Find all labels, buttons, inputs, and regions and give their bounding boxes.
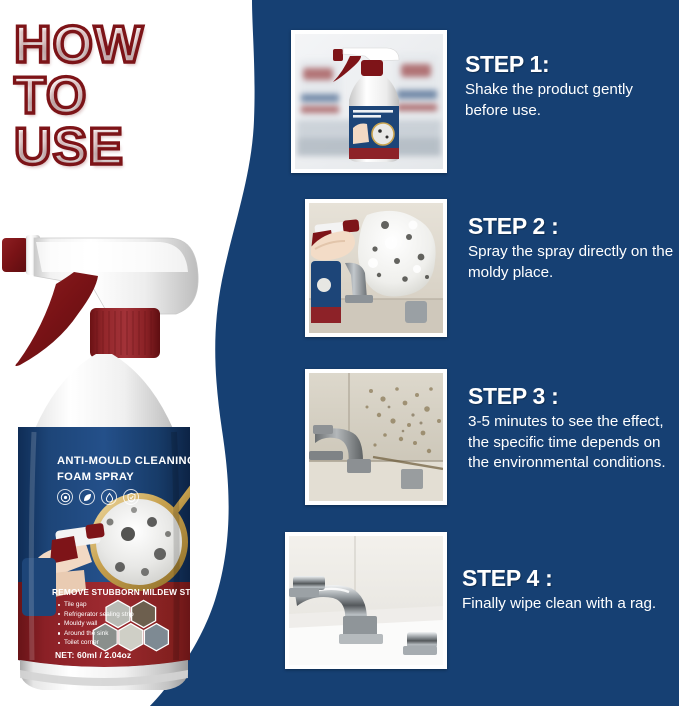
- step-3-text: STEP 3 : 3-5 minutes to see the effect, …: [468, 384, 668, 474]
- bottle-label-feature-icons: [57, 489, 139, 505]
- bottle-label-name-line-2: FOAM SPRAY: [57, 471, 134, 483]
- step-2-text: STEP 2 : Spray the spray directly on the…: [468, 214, 674, 283]
- shield-icon: [123, 489, 139, 505]
- step-2-body: Spray the spray directly on the moldy pl…: [468, 242, 674, 283]
- infographic-page: HOW TO USE: [0, 0, 679, 706]
- target-icon: [57, 489, 73, 505]
- step-3-heading: STEP 3 :: [468, 384, 668, 408]
- list-item: Tile gap: [58, 600, 134, 610]
- list-item: Around the sink: [58, 629, 134, 639]
- page-title-line-1: HOW: [14, 20, 144, 71]
- bottle-label-claim: REMOVE STUBBORN MILDEW STAINS: [52, 587, 211, 597]
- photo-spraying-foam: [305, 199, 447, 337]
- photo-mouldy-tile-wall: [305, 369, 447, 505]
- page-title: HOW TO USE: [14, 20, 144, 173]
- bottle-label-use-list: Tile gap Refrigerator sealing strip Moul…: [58, 600, 134, 648]
- photo-shaking-bottle: [291, 30, 447, 173]
- step-1-heading: STEP 1:: [465, 52, 671, 76]
- photo-clean-faucet: [285, 532, 447, 669]
- step-1-body: Shake the product gently before use.: [465, 80, 671, 121]
- droplet-icon: [101, 489, 117, 505]
- leaf-icon: [79, 489, 95, 505]
- page-title-line-2: TO: [14, 71, 144, 122]
- list-item: Refrigerator sealing strip: [58, 610, 134, 620]
- list-item: Toilet corner: [58, 638, 134, 648]
- step-3-body: 3-5 minutes to see the effect, the speci…: [468, 412, 668, 474]
- step-4-heading: STEP 4 :: [462, 566, 668, 590]
- step-2-heading: STEP 2 :: [468, 214, 674, 238]
- step-1-text: STEP 1: Shake the product gently before …: [465, 52, 671, 121]
- list-item: Mouldy wall: [58, 619, 134, 629]
- page-title-line-3: USE: [14, 122, 144, 173]
- bottle-label-net-weight: NET: 60ml / 2.04oz: [55, 650, 131, 660]
- step-4-text: STEP 4 : Finally wipe clean with a rag.: [462, 566, 668, 615]
- bottle-label-name-line-1: ANTI-MOULD CLEANING: [57, 455, 196, 467]
- step-4-body: Finally wipe clean with a rag.: [462, 594, 668, 615]
